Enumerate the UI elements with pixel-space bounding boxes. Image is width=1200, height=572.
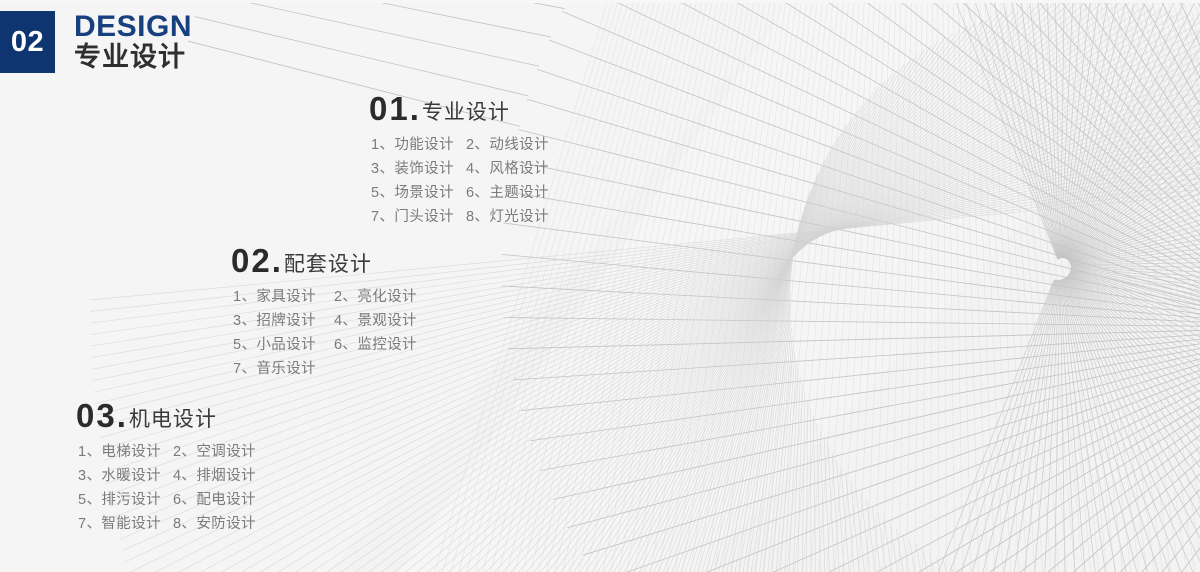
slide-canvas: 02 DESIGN 专业设计 01 . 专业设计 1、功能设计 2、动线设计 3… — [0, 0, 1200, 572]
list-item: 2、空调设计 — [173, 440, 256, 464]
section-01-title: 专业设计 — [422, 102, 510, 123]
section-02-title: 配套设计 — [284, 254, 372, 275]
section-01-dot: . — [410, 92, 419, 125]
list-item: 1、电梯设计 — [78, 440, 161, 464]
section-02-number: 02 — [231, 244, 272, 277]
section-03-number: 03 — [76, 399, 117, 432]
section-03-title: 机电设计 — [129, 409, 217, 430]
section-02-item-list: 1、家具设计 2、亮化设计 3、招牌设计 4、景观设计 5、小品设计 6、监控设… — [231, 285, 417, 381]
list-item: 4、风格设计 — [466, 157, 549, 181]
section-01-number: 01 — [369, 92, 410, 125]
list-item: 1、家具设计 — [233, 285, 316, 309]
section-01-item-list: 1、功能设计 2、动线设计 3、装饰设计 4、风格设计 5、场景设计 6、主题设… — [369, 133, 549, 229]
list-item: 7、音乐设计 — [233, 357, 316, 381]
section-03-item-list: 1、电梯设计 2、空调设计 3、水暖设计 4、排烟设计 5、排污设计 6、配电设… — [76, 440, 256, 536]
header-title-group: DESIGN 专业设计 — [74, 11, 192, 73]
list-item: 8、灯光设计 — [466, 205, 549, 229]
list-item: 5、场景设计 — [371, 181, 454, 205]
section-03-heading: 03 . 机电设计 — [76, 399, 256, 432]
section-02-dot: . — [272, 244, 281, 277]
list-item: 3、招牌设计 — [233, 309, 316, 333]
section-block-02: 02 . 配套设计 1、家具设计 2、亮化设计 3、招牌设计 4、景观设计 5、… — [231, 244, 417, 381]
top-edge-strip — [0, 0, 1200, 3]
section-block-03: 03 . 机电设计 1、电梯设计 2、空调设计 3、水暖设计 4、排烟设计 5、… — [76, 399, 256, 536]
header-title-english: DESIGN — [74, 12, 192, 43]
list-item: 4、排烟设计 — [173, 464, 256, 488]
list-item: 7、门头设计 — [371, 205, 454, 229]
list-item: 4、景观设计 — [334, 309, 417, 333]
list-item: 8、安防设计 — [173, 512, 256, 536]
list-item: 3、装饰设计 — [371, 157, 454, 181]
section-03-dot: . — [117, 399, 126, 432]
section-01-heading: 01 . 专业设计 — [369, 92, 549, 125]
list-item: 5、小品设计 — [233, 333, 316, 357]
header-number-badge: 02 — [0, 11, 55, 73]
list-item: 6、配电设计 — [173, 488, 256, 512]
list-item: 2、动线设计 — [466, 133, 549, 157]
header-title-chinese: 专业设计 — [74, 43, 192, 72]
list-item: 6、监控设计 — [334, 333, 417, 357]
section-02-heading: 02 . 配套设计 — [231, 244, 417, 277]
list-item: 7、智能设计 — [78, 512, 161, 536]
list-item: 3、水暖设计 — [78, 464, 161, 488]
list-item: 5、排污设计 — [78, 488, 161, 512]
list-item: 2、亮化设计 — [334, 285, 417, 309]
list-item: 1、功能设计 — [371, 133, 454, 157]
section-block-01: 01 . 专业设计 1、功能设计 2、动线设计 3、装饰设计 4、风格设计 5、… — [369, 92, 549, 229]
list-item: 6、主题设计 — [466, 181, 549, 205]
slide-header: 02 DESIGN 专业设计 — [0, 11, 192, 73]
